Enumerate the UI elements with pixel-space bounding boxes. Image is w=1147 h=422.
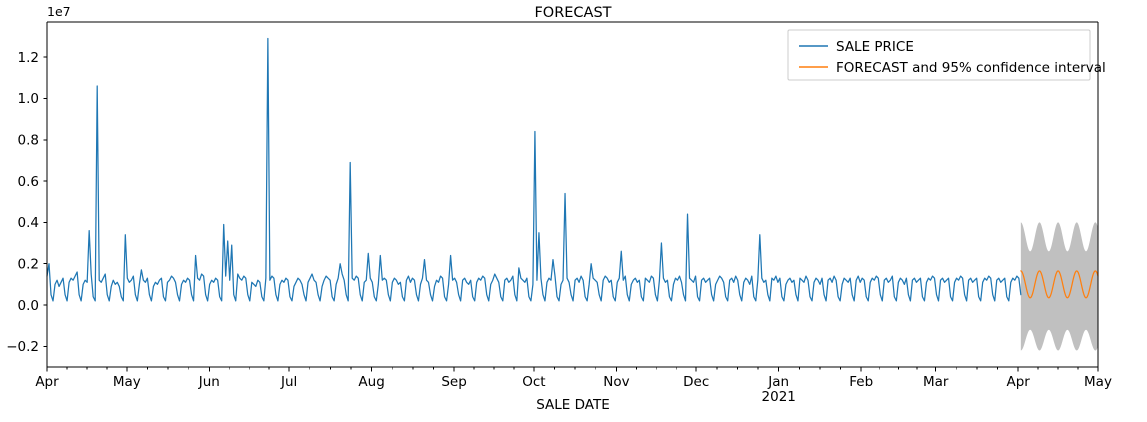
y-tick-label: 0.2 — [18, 257, 39, 273]
x-tick-label: Apr — [35, 374, 59, 390]
y-axis-offset-label: 1e7 — [47, 4, 71, 19]
x-tick-label: Jun — [198, 374, 220, 390]
x-tick-label: Mar — [923, 374, 949, 390]
x-tick-label: Jul — [280, 374, 297, 390]
y-tick-label: 1.0 — [18, 91, 39, 107]
x-tick-label: Dec — [683, 374, 709, 390]
chart-canvas: FORECAST 1e7 −0.20.00.20.40.60.81.01.2 A… — [0, 0, 1147, 422]
x-tick-label: Sep — [441, 374, 466, 390]
x-tick-label: Oct — [522, 374, 545, 390]
x-tick-label: Apr — [1006, 374, 1030, 390]
x-axis-label: SALE DATE — [536, 397, 610, 413]
x-tick-year-label: 2021 — [762, 389, 796, 405]
y-tick-label: −0.2 — [6, 339, 39, 355]
y-tick-label: 0.4 — [18, 215, 39, 231]
forecast-chart-figure: FORECAST 1e7 −0.20.00.20.40.60.81.01.2 A… — [0, 0, 1147, 422]
legend-label[interactable]: SALE PRICE — [836, 39, 914, 55]
x-tick-label: Jan — [767, 374, 789, 390]
x-tick-label: Nov — [603, 374, 629, 390]
legend-label[interactable]: FORECAST and 95% confidence interval — [836, 60, 1106, 76]
y-tick-label: 0.0 — [18, 298, 39, 314]
y-tick-label: 1.2 — [18, 50, 39, 66]
x-tick-label: May — [1084, 374, 1112, 390]
x-tick-label: Aug — [358, 374, 384, 390]
chart-legend[interactable]: SALE PRICEFORECAST and 95% confidence in… — [788, 30, 1106, 80]
y-tick-label: 0.8 — [18, 133, 39, 149]
y-tick-label: 0.6 — [18, 174, 39, 190]
x-tick-label: May — [113, 374, 141, 390]
x-tick-label: Feb — [849, 374, 873, 390]
page-title: FORECAST — [534, 5, 611, 21]
